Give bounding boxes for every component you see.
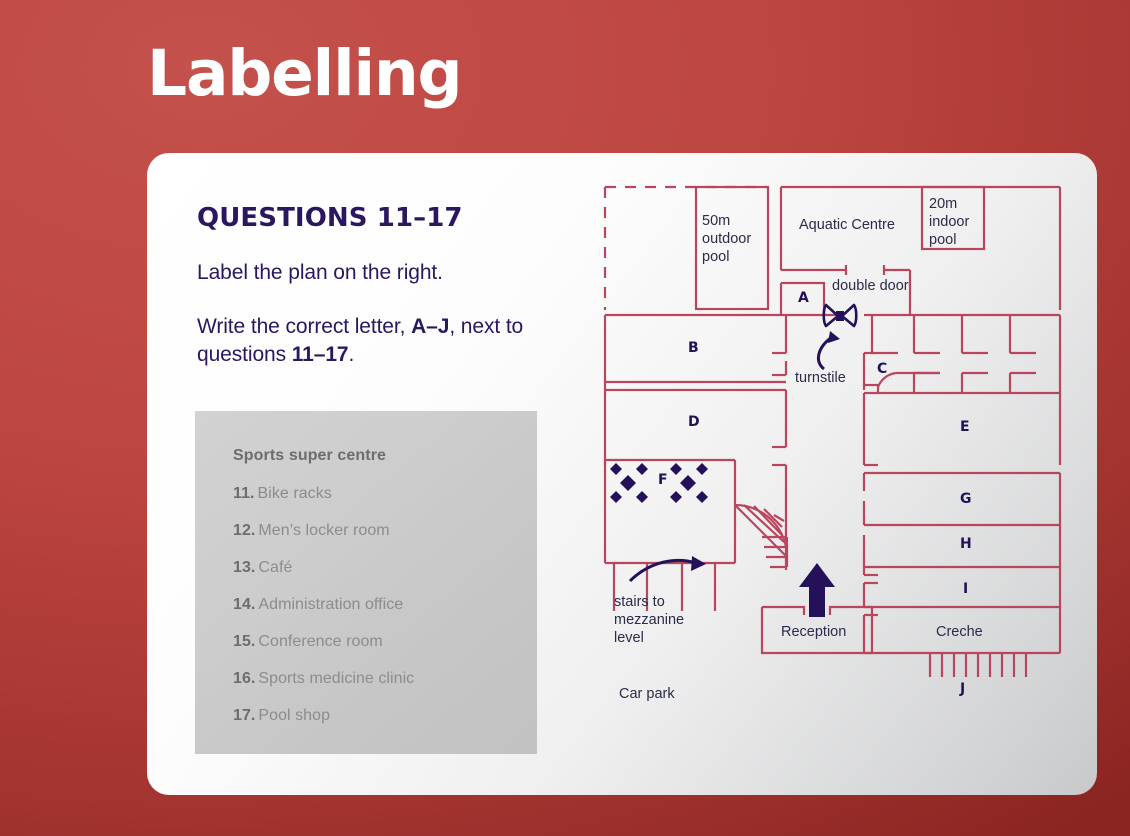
room-letter-j: J <box>959 681 965 697</box>
plant-symbol-left <box>610 463 648 503</box>
instruction-2-text-c: . <box>348 343 354 366</box>
list-item[interactable]: 13.Café <box>233 559 499 577</box>
label-car-park: Car park <box>619 686 675 702</box>
room-letter-i: I <box>963 581 968 597</box>
item-number: 12. <box>233 522 255 539</box>
questions-heading: QUESTIONS 11–17 <box>197 203 542 233</box>
answer-panel: Sports super centre 11.Bike racks 12.Men… <box>195 411 537 754</box>
item-label: Pool shop <box>258 707 330 724</box>
item-label: Conference room <box>258 633 382 650</box>
item-number: 11. <box>233 485 255 502</box>
label-50m-pool-line2: outdoor <box>702 231 751 247</box>
stair-tread-3 <box>754 506 782 535</box>
room-letter-b: B <box>688 340 699 356</box>
list-item[interactable]: 17.Pool shop <box>233 707 499 725</box>
reception-box <box>762 607 804 615</box>
plant-symbol-right <box>670 463 708 503</box>
item-label: Sports medicine clinic <box>258 670 414 687</box>
label-double-door: double door <box>832 278 909 294</box>
room-letter-d: D <box>688 414 700 430</box>
room-letter-h: H <box>960 536 972 552</box>
label-stairs-line3: level <box>614 630 644 646</box>
item-number: 17. <box>233 707 255 724</box>
room-50m-outdoor-pool <box>696 187 768 309</box>
label-20m-pool-line2: indoor <box>929 214 969 230</box>
list-item[interactable]: 11.Bike racks <box>233 485 499 503</box>
list-item[interactable]: 15.Conference room <box>233 633 499 651</box>
item-label: Café <box>258 559 292 576</box>
reception-box-2 <box>830 607 872 615</box>
item-label: Bike racks <box>258 485 332 502</box>
questions-column: QUESTIONS 11–17 Label the plan on the ri… <box>197 203 542 369</box>
item-number: 16. <box>233 670 255 687</box>
instruction-2-range: 11–17 <box>292 343 349 366</box>
label-20m-pool-line3: pool <box>929 232 956 248</box>
page-title: Labelling <box>147 42 461 105</box>
list-item[interactable]: 14.Administration office <box>233 596 499 614</box>
room-letter-e: E <box>960 419 970 435</box>
instruction-2-letters: A–J <box>411 315 449 338</box>
label-20m-pool-line1: 20m <box>929 196 957 212</box>
label-aquatic-centre: Aquatic Centre <box>799 217 895 233</box>
label-stairs-line2: mezzanine <box>614 612 684 628</box>
instruction-line-2: Write the correct letter, A–J, next to q… <box>197 313 542 369</box>
item-number: 15. <box>233 633 255 650</box>
item-number: 14. <box>233 596 255 613</box>
room-letter-c: C <box>877 361 887 377</box>
label-50m-pool-line3: pool <box>702 249 729 265</box>
content-card: QUESTIONS 11–17 Label the plan on the ri… <box>147 153 1097 795</box>
room-letter-g: G <box>960 491 972 507</box>
label-stairs-line1: stairs to <box>614 594 665 610</box>
instruction-line-1: Label the plan on the right. <box>197 259 542 287</box>
stairs-arrow-head <box>691 556 706 571</box>
room-letter-f: F <box>658 472 668 488</box>
floor-plan: 50m outdoor pool Aquatic Centre 20m indo… <box>592 175 1072 775</box>
item-number: 13. <box>233 559 255 576</box>
answer-panel-title: Sports super centre <box>233 447 499 465</box>
room-letter-a: A <box>798 290 809 306</box>
label-turnstile: turnstile <box>795 370 846 386</box>
label-reception: Reception <box>781 624 846 640</box>
item-label: Men’s locker room <box>258 522 389 539</box>
label-creche: Creche <box>936 624 983 640</box>
list-item[interactable]: 12.Men’s locker room <box>233 522 499 540</box>
turnstile-arrow-head <box>828 331 840 343</box>
item-label: Administration office <box>258 596 403 613</box>
instruction-2-text-a: Write the correct letter, <box>197 315 411 338</box>
list-item[interactable]: 16.Sports medicine clinic <box>233 670 499 688</box>
label-50m-pool-line1: 50m <box>702 213 730 229</box>
